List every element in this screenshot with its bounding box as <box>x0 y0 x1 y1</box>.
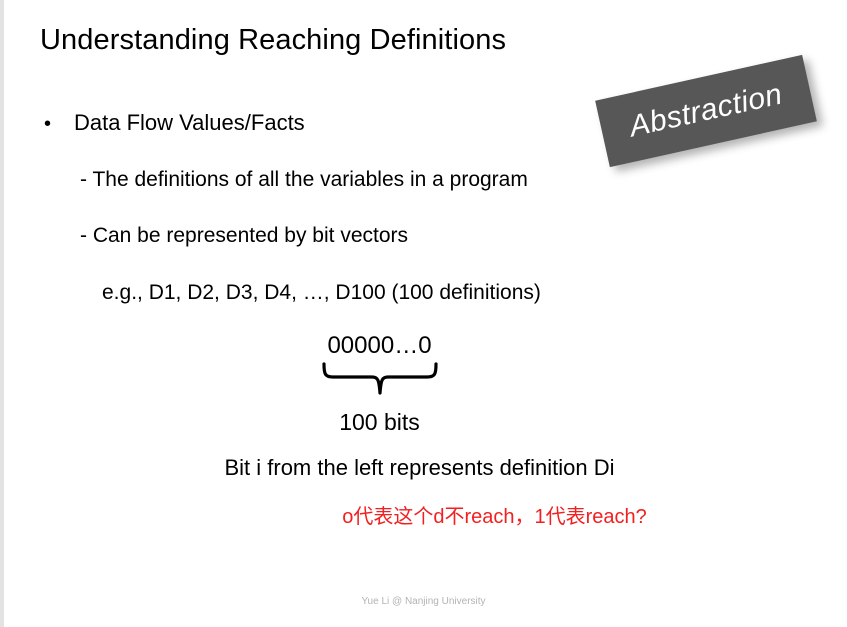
bullet-item-label: Data Flow Values/Facts <box>74 110 305 136</box>
sub-bullet-definitions: - The definitions of all the variables i… <box>80 168 528 192</box>
handwritten-annotation-text: o代表这个d不reach，1代表reach? <box>342 500 647 529</box>
bullet-item-data-flow-values: • Data Flow Values/Facts <box>44 110 305 136</box>
left-edge-strip <box>0 0 4 627</box>
slide-footer: Yue Li @ Nanjing University <box>0 596 847 607</box>
slide-canvas: Understanding Reaching Definitions Abstr… <box>0 0 847 627</box>
bit-i-statement-row: Bit i from the left represents definitio… <box>0 455 847 481</box>
bit-vector-row: 00000…0 <box>0 332 847 360</box>
bullet-dot-icon: • <box>44 114 74 134</box>
bit-i-statement-text: Bit i from the left represents definitio… <box>224 455 614 481</box>
page-title: Understanding Reaching Definitions <box>40 24 506 57</box>
brace-label-text: 100 bits <box>339 409 420 436</box>
abstraction-stamp-label: Abstraction <box>626 78 785 145</box>
example-definitions-line: e.g., D1, D2, D3, D4, …, D100 (100 defin… <box>102 281 541 305</box>
bit-vector-value: 00000…0 <box>327 332 431 360</box>
handwritten-annotation-row: o代表这个d不reach，1代表reach? <box>0 500 847 529</box>
sub-bullet-bit-vectors: - Can be represented by bit vectors <box>80 224 408 248</box>
underbrace-icon <box>320 362 440 396</box>
abstraction-stamp: Abstraction <box>595 55 817 167</box>
brace-label-row: 100 bits <box>0 409 847 436</box>
